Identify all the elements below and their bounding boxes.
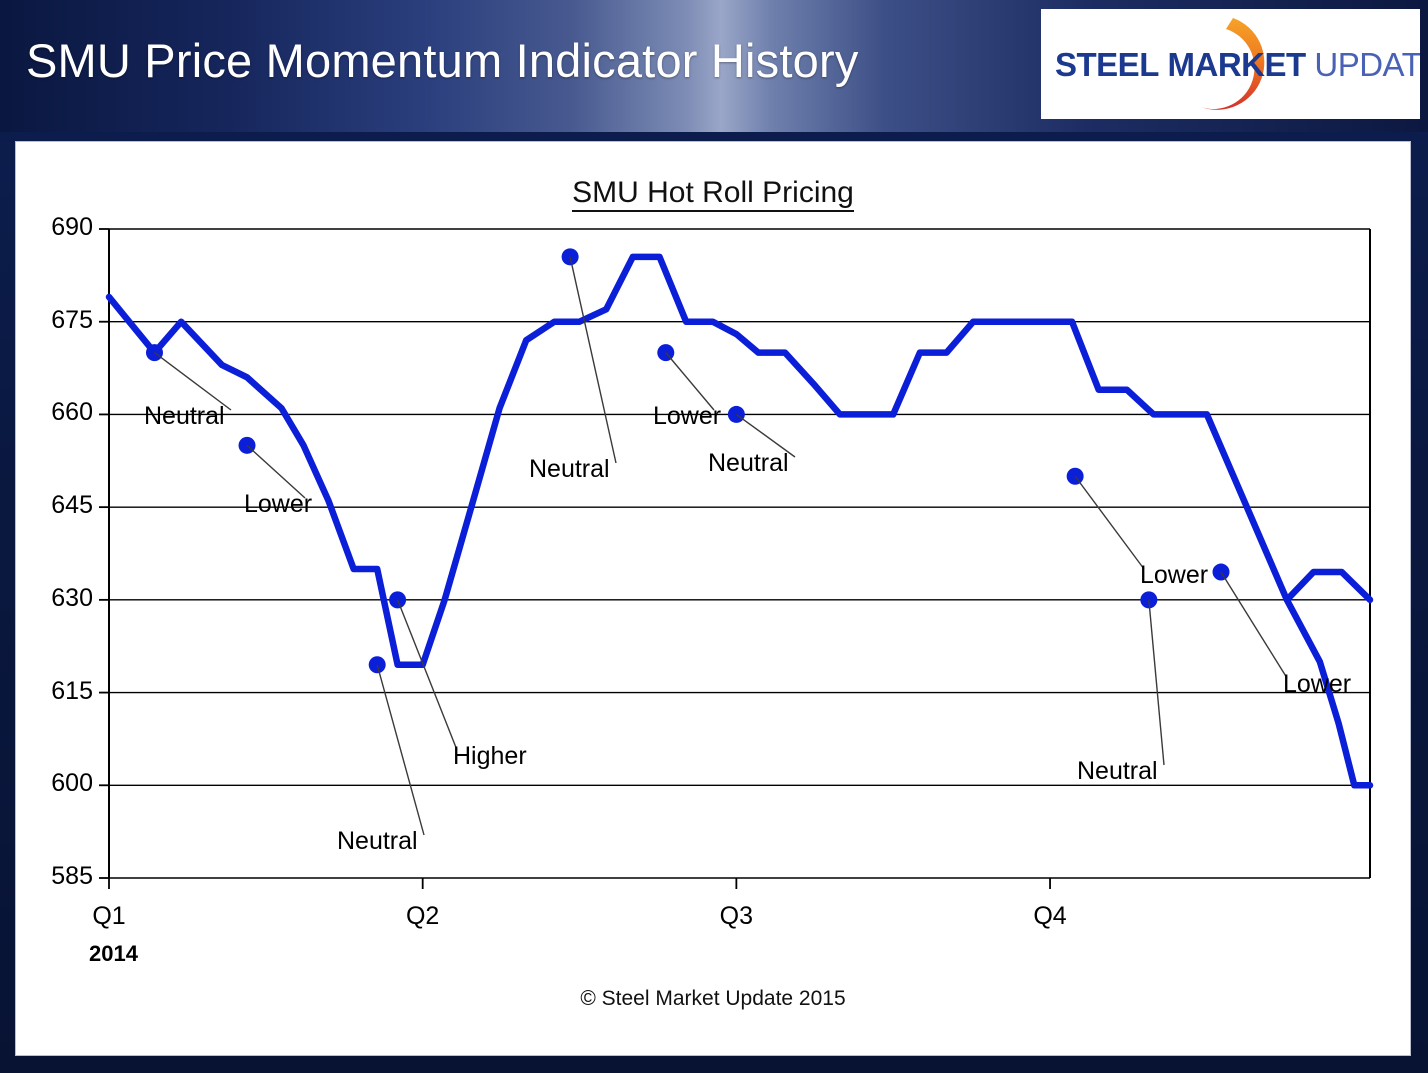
y-tick-label: 615 [23,677,93,706]
copyright-footer: © Steel Market Update 2015 [16,987,1410,1011]
steel-market-update-logo: STEEL MARKET UPDATE [1041,9,1420,119]
page-title: SMU Price Momentum Indicator History [26,33,859,88]
logo-wordmark: STEEL MARKET UPDATE [1055,46,1420,84]
annotation-label-neutral-0: Neutral [144,402,225,431]
slide-header: SMU Price Momentum Indicator History STE… [0,0,1428,132]
annotation-label-neutral-6: Neutral [708,449,789,478]
y-tick-label: 600 [23,769,93,798]
slide-root: SMU Price Momentum Indicator History STE… [0,0,1428,1073]
annotation-label-neutral-2: Neutral [337,827,418,856]
annotation-label-lower-7: Lower [1140,561,1208,590]
annotation-label-lower-5: Lower [653,402,721,431]
annotation-label-lower-1: Lower [244,490,312,519]
annotation-label-neutral-8: Neutral [1077,757,1158,786]
x-axis-year-label: 2014 [89,941,138,967]
x-tick-label-q4: Q4 [1005,902,1095,931]
annotation-label-higher-3: Higher [453,742,527,771]
logo-steel: STEEL [1055,46,1159,83]
annotation-label-neutral-4: Neutral [529,455,610,484]
content-panel: SMU Hot Roll Pricing 6906756606456306156… [15,141,1411,1056]
x-tick-label-q1: Q1 [64,902,154,931]
x-tick-label-q3: Q3 [691,902,781,931]
y-tick-label: 585 [23,862,93,891]
y-tick-label: 660 [23,398,93,427]
logo-update: UPDATE [1314,46,1420,83]
y-tick-label: 690 [23,213,93,242]
y-tick-label: 630 [23,584,93,613]
x-tick-label-q2: Q2 [378,902,468,931]
logo-market: MARKET [1168,46,1306,83]
y-tick-label: 645 [23,491,93,520]
annotation-label-lower-9: Lower [1283,670,1351,699]
y-tick-label: 675 [23,306,93,335]
